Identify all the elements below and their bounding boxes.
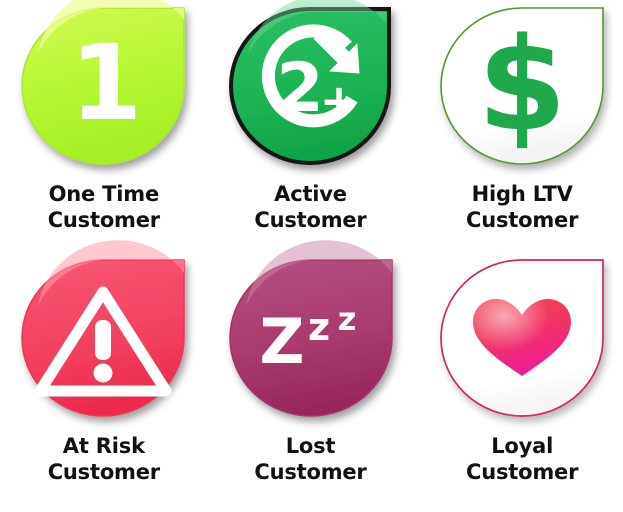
svg-text:$: $ (478, 11, 567, 160)
caption-line-1: Lost (254, 433, 366, 459)
badge-cell-at-risk-customer[interactable]: At Risk Customer (0, 250, 208, 512)
caption-line-1: At Risk (48, 433, 160, 459)
badge-caption-loyal: Loyal Customer (466, 433, 578, 485)
svg-text:+: + (320, 74, 359, 128)
warning-triangle-icon (18, 258, 188, 421)
badge-cell-lost-customer[interactable]: Z z z Lost Customer (208, 250, 416, 512)
caption-line-2: Customer (466, 459, 578, 485)
svg-text:z: z (338, 300, 357, 338)
badge-caption-lost: Lost Customer (254, 433, 366, 485)
badge-cell-one-time-customer[interactable]: 1 One Time Customer (0, 0, 208, 250)
number-one-icon: 1 (18, 6, 188, 169)
badge-cell-high-ltv-customer[interactable]: $ High LTV Customer (415, 0, 623, 250)
diagram-canvas: 1 One Time Customer (0, 0, 623, 512)
badge-cell-active-customer[interactable]: 2 + Active Customer (208, 0, 416, 250)
refresh-arrow-2plus-icon: 2 + (226, 6, 396, 169)
svg-text:2: 2 (277, 49, 324, 128)
caption-line-2: Customer (48, 207, 160, 233)
caption-line-2: Customer (254, 207, 366, 233)
badge-cell-loyal-customer[interactable]: Loyal Customer (415, 250, 623, 512)
caption-line-2: Customer (254, 459, 366, 485)
caption-line-1: High LTV (466, 181, 578, 207)
caption-line-1: One Time (48, 181, 160, 207)
caption-line-1: Active (254, 181, 366, 207)
caption-line-1: Loyal (466, 433, 578, 459)
badge-grid: 1 One Time Customer (0, 0, 623, 512)
badge-caption-high-ltv: High LTV Customer (466, 181, 578, 233)
sleeping-zzz-icon: Z z z (226, 258, 396, 421)
badge-caption-one-time: One Time Customer (48, 181, 160, 233)
caption-line-2: Customer (48, 459, 160, 485)
caption-line-2: Customer (466, 207, 578, 233)
badge-caption-active: Active Customer (254, 181, 366, 233)
svg-text:z: z (308, 305, 330, 349)
svg-text:1: 1 (70, 22, 142, 144)
badge-caption-at-risk: At Risk Customer (48, 433, 160, 485)
badge-active-customer[interactable]: 2 + (226, 6, 396, 169)
heart-icon (437, 258, 607, 421)
badge-high-ltv-customer[interactable]: $ (437, 6, 607, 169)
badge-loyal-customer[interactable] (437, 258, 607, 421)
badge-lost-customer[interactable]: Z z z (226, 258, 396, 421)
badge-one-time-customer[interactable]: 1 (18, 6, 188, 169)
svg-text:Z: Z (260, 305, 305, 378)
badge-at-risk-customer[interactable] (18, 258, 188, 421)
dollar-sign-icon: $ (437, 6, 607, 169)
